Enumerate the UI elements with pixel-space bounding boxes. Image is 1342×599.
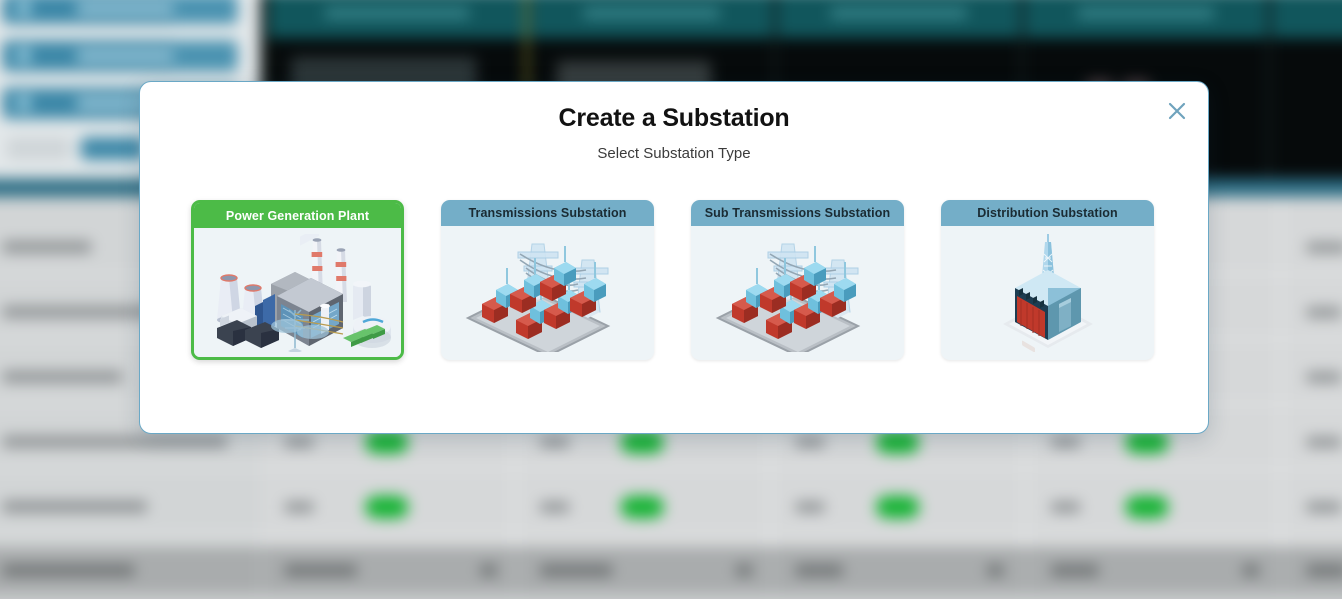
background-icon — [17, 96, 30, 109]
substation-type-card-transmissions-substation[interactable]: Transmissions Substation — [441, 200, 654, 360]
background-row-label — [3, 371, 122, 382]
substation-type-card-power-generation-plant[interactable]: Power Generation Plant — [191, 200, 404, 360]
background-text — [1078, 9, 1214, 18]
background-cell-text — [1307, 502, 1342, 512]
background-sidebar-button — [3, 40, 238, 71]
card-title: Distribution Substation — [941, 200, 1154, 226]
substation-type-card-sub-transmissions-substation[interactable]: Sub Transmissions Substation — [691, 200, 904, 360]
app-root: Create a Substation Select Substation Ty… — [0, 0, 1342, 599]
background-toggle — [876, 431, 919, 454]
background-sidebar-button — [3, 0, 238, 24]
background-button — [81, 137, 145, 160]
background-segment — [174, 0, 238, 24]
background-hero-card — [1271, 0, 1342, 178]
card-title: Power Generation Plant — [194, 203, 401, 228]
sub-transmission-substation-icon — [691, 226, 904, 358]
background-toggle — [365, 496, 408, 519]
background-row-label — [3, 241, 92, 252]
substation-type-list: Power Generation Plant — [191, 200, 1159, 360]
background-divider — [0, 533, 1342, 535]
background-cell-text — [1051, 502, 1080, 512]
transmission-substation-icon — [441, 226, 654, 358]
background-filler — [0, 594, 1342, 599]
background-cell-text — [1307, 372, 1342, 382]
background-footer-text — [736, 565, 752, 576]
background-footer-text — [285, 565, 357, 576]
background-cell-text — [540, 502, 569, 512]
background-cell-text — [1307, 307, 1342, 317]
background-card-header — [1271, 0, 1342, 38]
background-toggle — [621, 431, 664, 454]
background-toggle — [1125, 431, 1168, 454]
background-icon — [17, 1, 30, 14]
background-cell-text — [540, 437, 569, 447]
background-card-header — [777, 0, 1020, 38]
background-footer-text — [3, 565, 135, 576]
background-table-column — [1282, 197, 1342, 599]
background-toggle — [621, 496, 664, 519]
background-toggle — [1125, 496, 1168, 519]
background-footer-text — [540, 565, 612, 576]
background-footer-text — [480, 565, 496, 576]
background-footer-text — [1307, 565, 1342, 576]
background-card-header — [530, 0, 773, 38]
background-row-label — [3, 501, 147, 512]
background-footer-text — [796, 565, 843, 576]
background-card-header — [268, 0, 525, 38]
background-icon — [17, 49, 30, 62]
background-cell-text — [1307, 242, 1342, 252]
background-card-body — [1271, 38, 1342, 178]
card-title: Transmissions Substation — [441, 200, 654, 226]
background-footer-text — [1243, 565, 1259, 576]
background-card-header — [1024, 0, 1267, 38]
background-segment — [174, 40, 238, 71]
power-generation-plant-icon — [194, 228, 401, 357]
create-substation-modal: Create a Substation Select Substation Ty… — [139, 81, 1209, 434]
background-cell-text — [1051, 437, 1080, 447]
background-text — [325, 9, 469, 18]
substation-type-card-distribution-substation[interactable]: Distribution Substation — [941, 200, 1154, 360]
background-cell-text — [796, 437, 825, 447]
modal-subtitle: Select Substation Type — [140, 145, 1208, 162]
background-cell-text — [796, 502, 825, 512]
background-cell-text — [1307, 437, 1342, 447]
background-text — [831, 9, 967, 18]
modal-title: Create a Substation — [140, 104, 1208, 133]
background-cell-text — [285, 437, 314, 447]
card-title: Sub Transmissions Substation — [691, 200, 904, 226]
distribution-substation-icon — [941, 226, 1154, 358]
background-divider — [0, 468, 1342, 470]
background-footer-text — [987, 565, 1003, 576]
background-footer-text — [1051, 565, 1098, 576]
background-toggle — [365, 431, 408, 454]
background-toggle — [876, 496, 919, 519]
background-text — [583, 9, 719, 18]
background-row-label — [3, 436, 228, 447]
background-cell-text — [285, 502, 314, 512]
background-button — [7, 137, 71, 160]
